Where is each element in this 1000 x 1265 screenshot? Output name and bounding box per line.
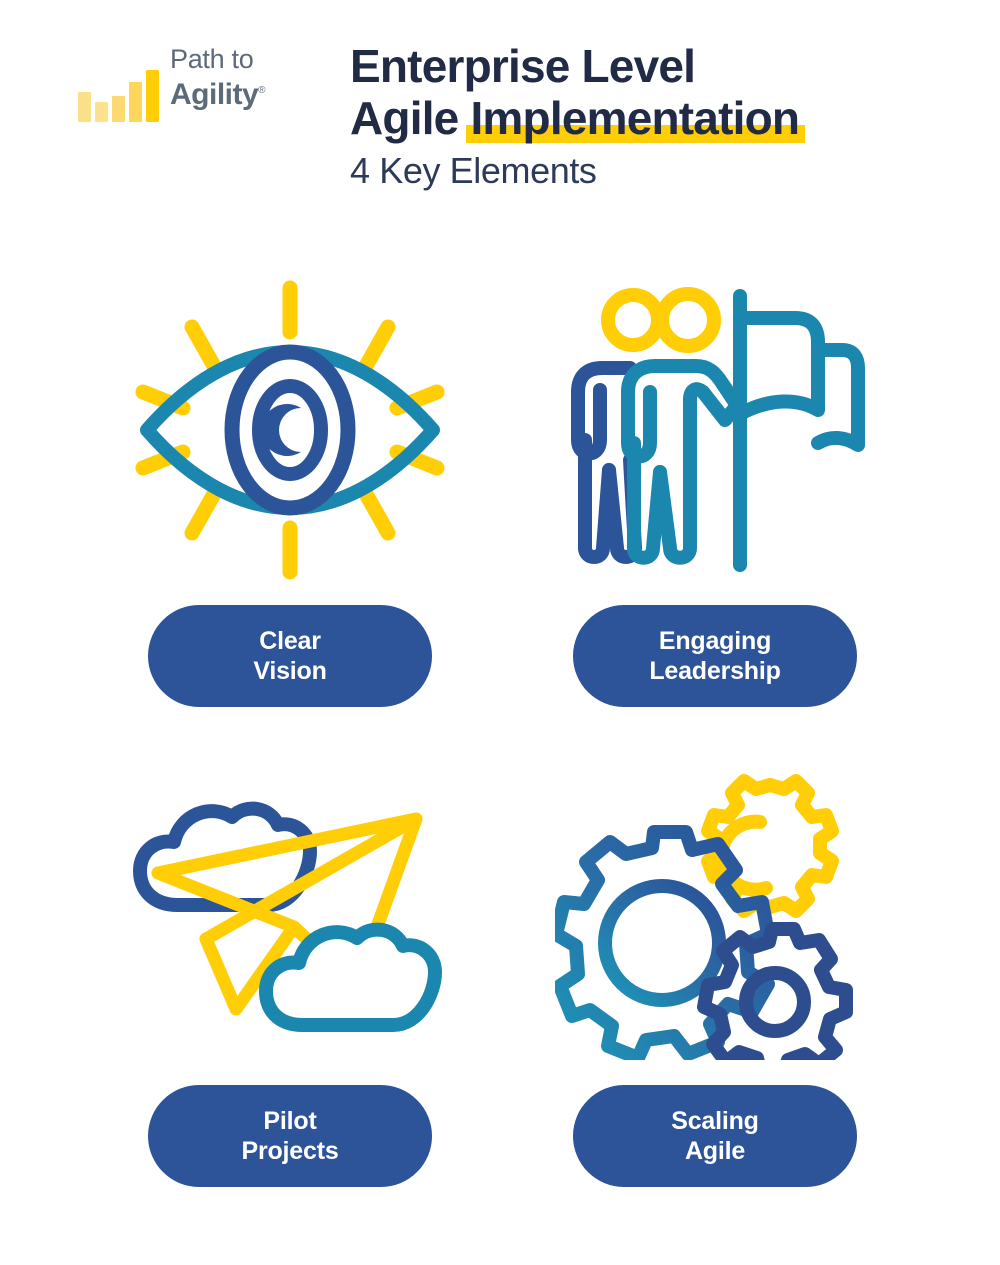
paper-plane-icon	[75, 745, 505, 1075]
element-card-scaling-agile: Scaling Agile	[500, 745, 930, 1215]
logo-bar-2	[95, 102, 108, 122]
label-pill-pilot-projects[interactable]: Pilot Projects	[148, 1085, 432, 1187]
pill-label: Scaling Agile	[671, 1106, 759, 1166]
logo-bar-4	[129, 82, 142, 122]
elements-grid: Clear Vision	[0, 250, 1000, 1210]
logo-wordmark: Path to Agility®	[170, 44, 310, 112]
title-line-2-highlight: Implementation	[470, 92, 799, 144]
logo-line2: Agility®	[170, 74, 265, 112]
title-line-2-prefix: Agile	[350, 92, 470, 144]
brand-logo: Path to Agility®	[78, 44, 308, 124]
eye-icon	[75, 265, 505, 595]
title-highlight-wrap: Implementation	[470, 92, 799, 144]
title-block: Enterprise Level Agile Implementation 4 …	[350, 40, 975, 194]
element-card-clear-vision: Clear Vision	[75, 265, 505, 735]
logo-line2-text: Agility	[170, 78, 258, 111]
title-line-1: Enterprise Level	[350, 40, 975, 92]
title-line-2: Agile Implementation	[350, 92, 975, 144]
registered-mark: ®	[258, 85, 265, 96]
pill-label: Engaging Leadership	[649, 626, 780, 686]
logo-bar-1	[78, 92, 91, 122]
logo-bar-5	[146, 70, 159, 122]
leadership-icon	[500, 265, 930, 595]
logo-bar-chart-icon	[78, 70, 162, 122]
logo-line1: Path to	[170, 44, 310, 74]
pill-label: Clear Vision	[253, 626, 326, 686]
label-pill-engaging-leadership[interactable]: Engaging Leadership	[573, 605, 857, 707]
logo-bar-3	[112, 96, 125, 122]
label-pill-scaling-agile[interactable]: Scaling Agile	[573, 1085, 857, 1187]
infographic-page: Path to Agility® Enterprise Level Agile …	[0, 0, 1000, 1265]
element-card-pilot-projects: Pilot Projects	[75, 745, 505, 1215]
header: Path to Agility® Enterprise Level Agile …	[0, 0, 1000, 230]
pill-label: Pilot Projects	[241, 1106, 338, 1166]
element-card-engaging-leadership: Engaging Leadership	[500, 265, 930, 735]
subtitle: 4 Key Elements	[350, 148, 975, 194]
label-pill-clear-vision[interactable]: Clear Vision	[148, 605, 432, 707]
gears-icon	[500, 745, 930, 1075]
